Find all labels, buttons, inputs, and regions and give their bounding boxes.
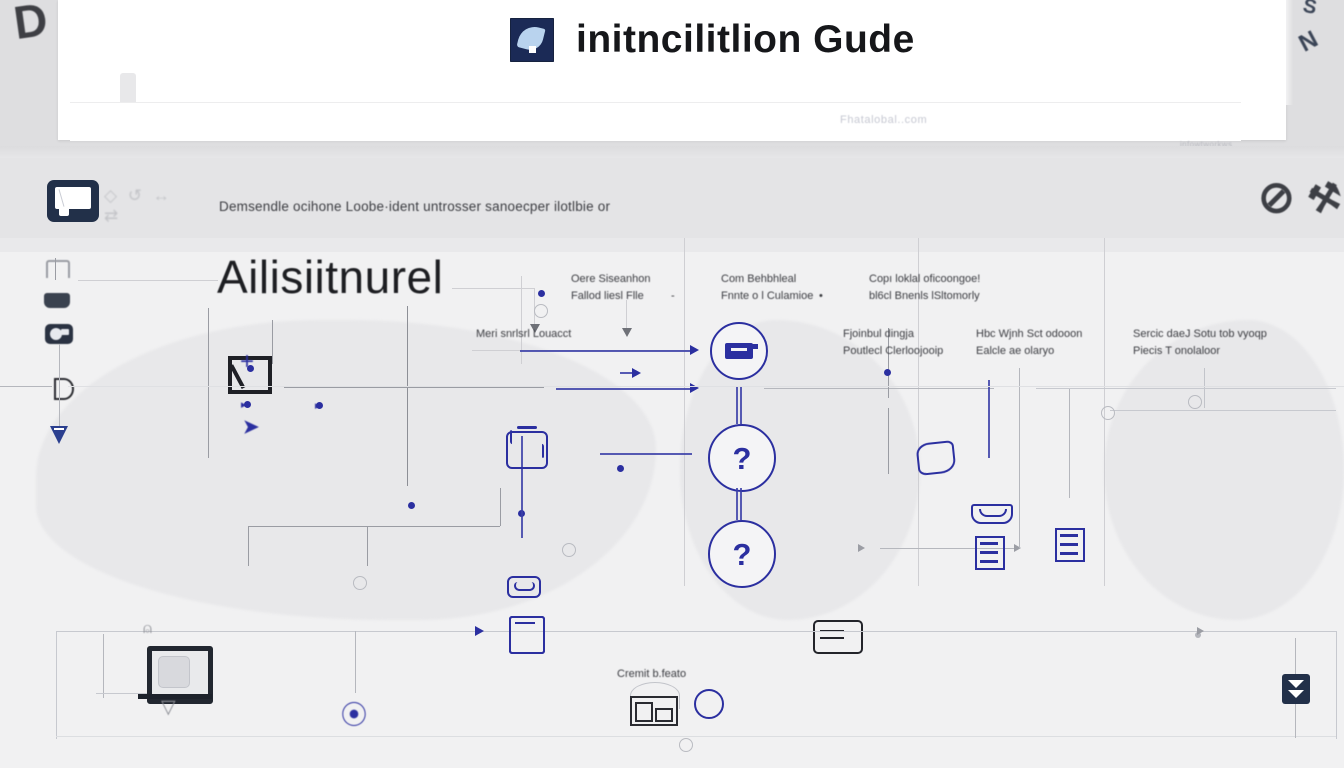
guide-line [78,280,218,281]
drop-pin-icon [50,426,68,444]
guide-line [888,408,889,474]
document-page: initncilitlion Gude Fhatalobal..com [58,0,1286,140]
guide-marker-icon [534,304,548,318]
bird-icon: ⦿ [341,695,367,732]
guide-line [355,631,356,693]
toolbar-ghost-shapes: ◇ ↺ ↔ ⇄ [104,186,194,214]
node-connector [740,488,742,520]
question-node-1[interactable]: ? [708,424,776,492]
guide-line [367,526,368,566]
rail-line [68,386,1344,387]
guide-marker-icon [1101,406,1115,420]
bottom-guide-line [56,736,1336,737]
ring-icon [694,689,724,719]
row-label-4: Sercic daeJ Sotu tob vyoqp Piecis T onol… [1133,326,1267,360]
node-connector [736,386,738,424]
rail-line [55,258,56,280]
monitor-app-icon[interactable] [47,180,99,222]
spool-icon [46,260,70,278]
guide-marker-icon [562,543,576,557]
guide-line [558,631,818,632]
flow-line [600,453,692,455]
bottom-guide-line [56,631,57,739]
bottom-guide-line [1336,631,1337,739]
guide-line [764,388,994,389]
rail-line [0,386,52,387]
ornament-glyph-right-1-icon: S [1301,0,1319,20]
column-label-1: Oere Siseanhon Fallod liesl Flle [571,271,651,305]
flow-line [988,380,990,458]
plus-icon: + [240,348,254,376]
flow-line [556,388,690,390]
toolbar [0,158,1344,239]
leaf-logo-icon [510,18,554,62]
column-label-3: Copı loklal oficoongoe! bl6cl Bnenls lSl… [869,271,980,305]
guide-line [272,320,273,364]
document-shadow-strip [0,146,1344,158]
label-separator-dot: - [671,288,675,305]
arrow-down-icon: ▽ [161,696,176,719]
guide-line [248,526,500,527]
flow-dot [408,502,415,509]
guide-line [248,526,249,566]
arrow-head-icon [690,345,699,355]
guide-marker-icon [1188,395,1202,409]
guide-line [1019,368,1020,548]
small-mark-icon: ▸ [315,399,321,412]
no-results-icon[interactable]: ⊘ [1258,172,1295,223]
node-connector [740,386,742,424]
rail-line [59,344,60,426]
document-title-block: initncilitlion Gude [510,18,915,62]
arrow-head-icon [632,368,641,378]
toolbar-description: Demsendle ocihone Loobe·ident untrosser … [219,199,610,214]
guide-line [1036,388,1336,389]
guide-line [1295,638,1296,674]
canvas-top-band [0,238,1344,252]
guide-dot [538,290,545,297]
bottom-label: Cremit b.feato [617,666,686,683]
flow-line [520,350,690,352]
flow-dot [884,369,891,376]
document-strip: D initncilitlion Gude Fhatalobal..com in… [0,0,1344,158]
bars-icon [975,536,1005,570]
guide-line [1295,704,1296,738]
arrow-head-icon [1197,627,1204,635]
column-divider [684,238,685,586]
guide-line [208,308,209,458]
guide-line [407,306,408,486]
column-label-2: Com Behbhleal Fnnte o l Culamioe [721,271,813,305]
document-icon-2 [509,616,545,654]
guide-line [1110,410,1336,411]
bird-mark-icon: ➤ [243,416,259,439]
label-separator-dot: • [819,288,823,305]
card-icon [813,620,863,654]
guide-line [1069,388,1070,498]
camera-icon [45,324,73,344]
document-header: initncilitlion Gude [58,0,1286,100]
watermark-text: Fhatalobal..com [840,114,927,126]
app-root: D initncilitlion Gude Fhatalobal..com in… [0,0,1344,768]
node-connector [736,488,738,520]
guide-line [284,387,544,388]
flow-dot [617,465,624,472]
building-icon [630,696,678,726]
double-down-arrow-icon[interactable] [1282,674,1310,704]
background-blob-3 [1104,320,1344,620]
blob-icon [915,440,956,476]
canvas-heading: Ailisiitnurel [217,250,443,304]
diagram-canvas: Ailisiitnurel [0,238,1344,768]
flag-icon [725,343,753,359]
arrow-head-icon [475,626,484,636]
document-subbar: Fhatalobal..com [70,102,1241,141]
background-blob-1 [36,320,656,620]
bars-icon-2 [1055,528,1085,562]
small-mark-icon: ▸ [241,398,247,411]
row-label-1: Meri snrlsrl Louacct [476,326,571,343]
tray-icon-left [44,293,70,308]
arrow-head-icon [858,544,865,552]
d-shape-icon [54,378,74,400]
tray-icon [971,504,1013,524]
pill-icon [507,576,541,598]
lamp-icon: ⍝ [143,620,152,637]
guide-line [500,488,501,526]
arrow-head-icon [622,328,632,337]
guide-line [103,634,104,698]
briefcase-icon [506,431,548,469]
row-label-2: Fjoinbul dingja Poutlecl Clerloojooip [843,326,943,360]
ornament-glyph-right-2-icon: N [1294,26,1322,59]
arrow-head-icon [690,383,699,393]
ornament-glyph-left-icon: D [10,0,50,50]
guide-line [880,548,940,549]
question-node-2[interactable]: ? [708,520,776,588]
page-title: initncilitlion Gude [576,18,915,62]
guide-marker-icon [353,576,367,590]
guide-marker-icon [679,738,693,752]
row-label-3: Hbc Wjnh Sct odooon Ealcle ae olaryo [976,326,1082,360]
flag-node[interactable] [710,322,768,380]
